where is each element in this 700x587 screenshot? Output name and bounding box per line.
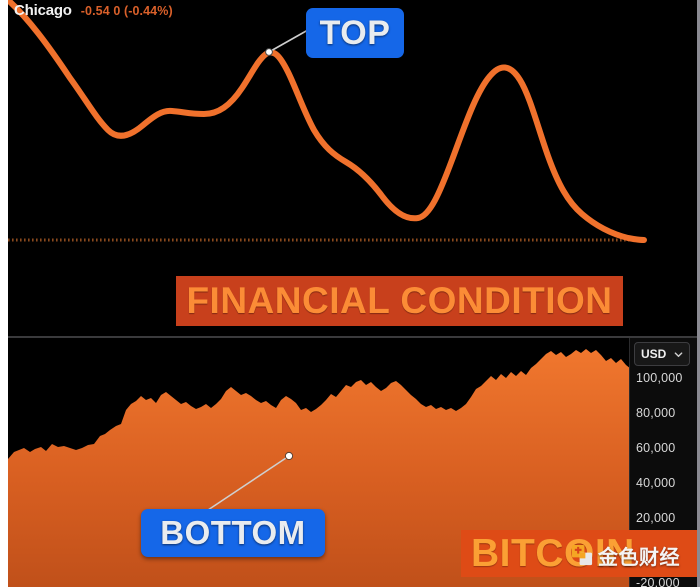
- chart-screenshot: Chicago -0.54 0 (-0.44%) TOP BOTTOM: [0, 0, 700, 587]
- currency-select-value: USD: [641, 347, 666, 361]
- currency-select[interactable]: USD: [634, 342, 690, 366]
- legend-values: -0.54 0 (-0.44%): [81, 4, 173, 18]
- bottom-annotation-anchor-dot: [285, 452, 292, 459]
- top-annotation-label: TOP: [320, 14, 391, 53]
- bottom-annotation-callout[interactable]: BOTTOM: [141, 509, 325, 557]
- price-tick-40000: 40,000: [636, 476, 675, 490]
- financial-condition-banner: FINANCIAL CONDITION: [176, 276, 623, 326]
- jinse-logo-icon: [571, 544, 594, 567]
- watermark-text: 金色财经: [598, 541, 680, 570]
- price-tick-20000: 20,000: [636, 511, 675, 525]
- chevron-down-icon: [674, 350, 683, 359]
- top-annotation-anchor-dot: [266, 49, 273, 56]
- financial-condition-label: FINANCIAL CONDITION: [186, 280, 612, 322]
- legend-symbol-label: Chicago: [14, 2, 72, 19]
- price-tick-60000: 60,000: [636, 441, 675, 455]
- price-tick-100000: 100,000: [636, 371, 683, 385]
- bottom-annotation-label: BOTTOM: [160, 514, 305, 552]
- watermark: 金色财经: [571, 541, 680, 570]
- price-tick-neg20000: -20,000: [636, 576, 680, 587]
- left-gutter: [0, 0, 8, 587]
- price-tick-80000: 80,000: [636, 406, 675, 420]
- chart-legend[interactable]: Chicago -0.54 0 (-0.44%): [14, 2, 173, 19]
- top-annotation-callout[interactable]: TOP: [306, 8, 404, 58]
